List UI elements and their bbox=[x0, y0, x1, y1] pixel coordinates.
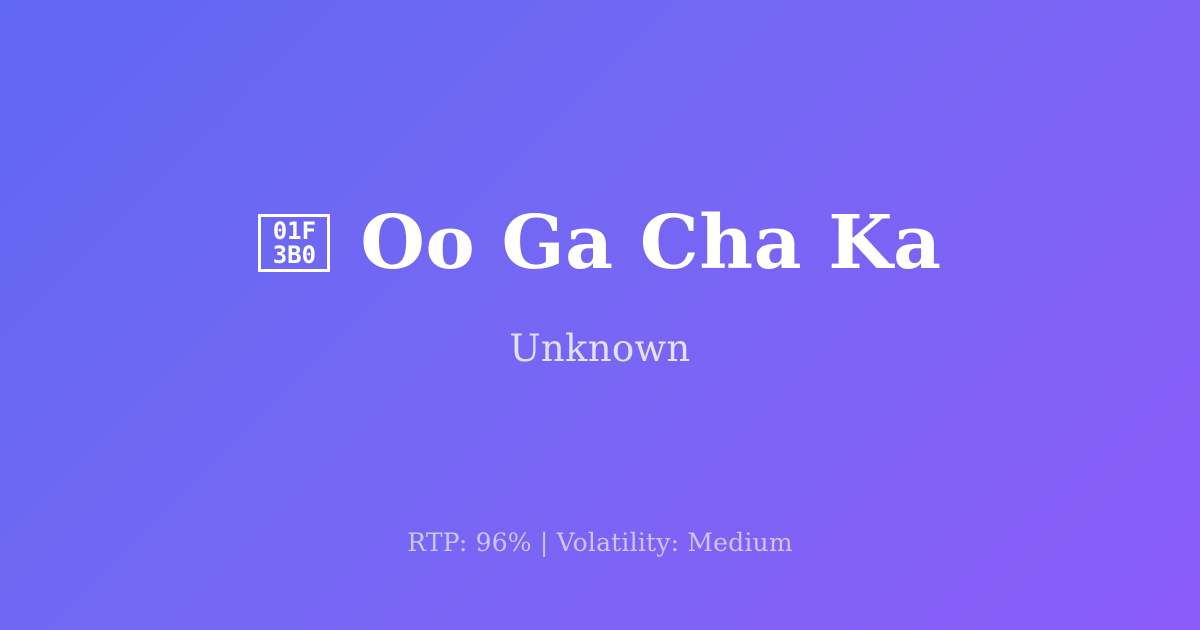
page-subtitle: Unknown bbox=[509, 327, 690, 371]
tofu-codepoint-line-2: 3B0 bbox=[273, 243, 316, 267]
page-title: Oo Ga Cha Ka bbox=[360, 203, 941, 283]
slot-machine-icon: 01F 3B0 bbox=[258, 214, 330, 272]
og-preview-card: 01F 3B0 Oo Ga Cha Ka Unknown RTP: 96% | … bbox=[0, 0, 1200, 630]
tofu-codepoint-line-1: 01F bbox=[273, 219, 316, 243]
stats-line: RTP: 96% | Volatility: Medium bbox=[0, 528, 1200, 558]
title-row: 01F 3B0 Oo Ga Cha Ka bbox=[258, 203, 941, 283]
stats-text: RTP: 96% | Volatility: Medium bbox=[407, 528, 793, 557]
